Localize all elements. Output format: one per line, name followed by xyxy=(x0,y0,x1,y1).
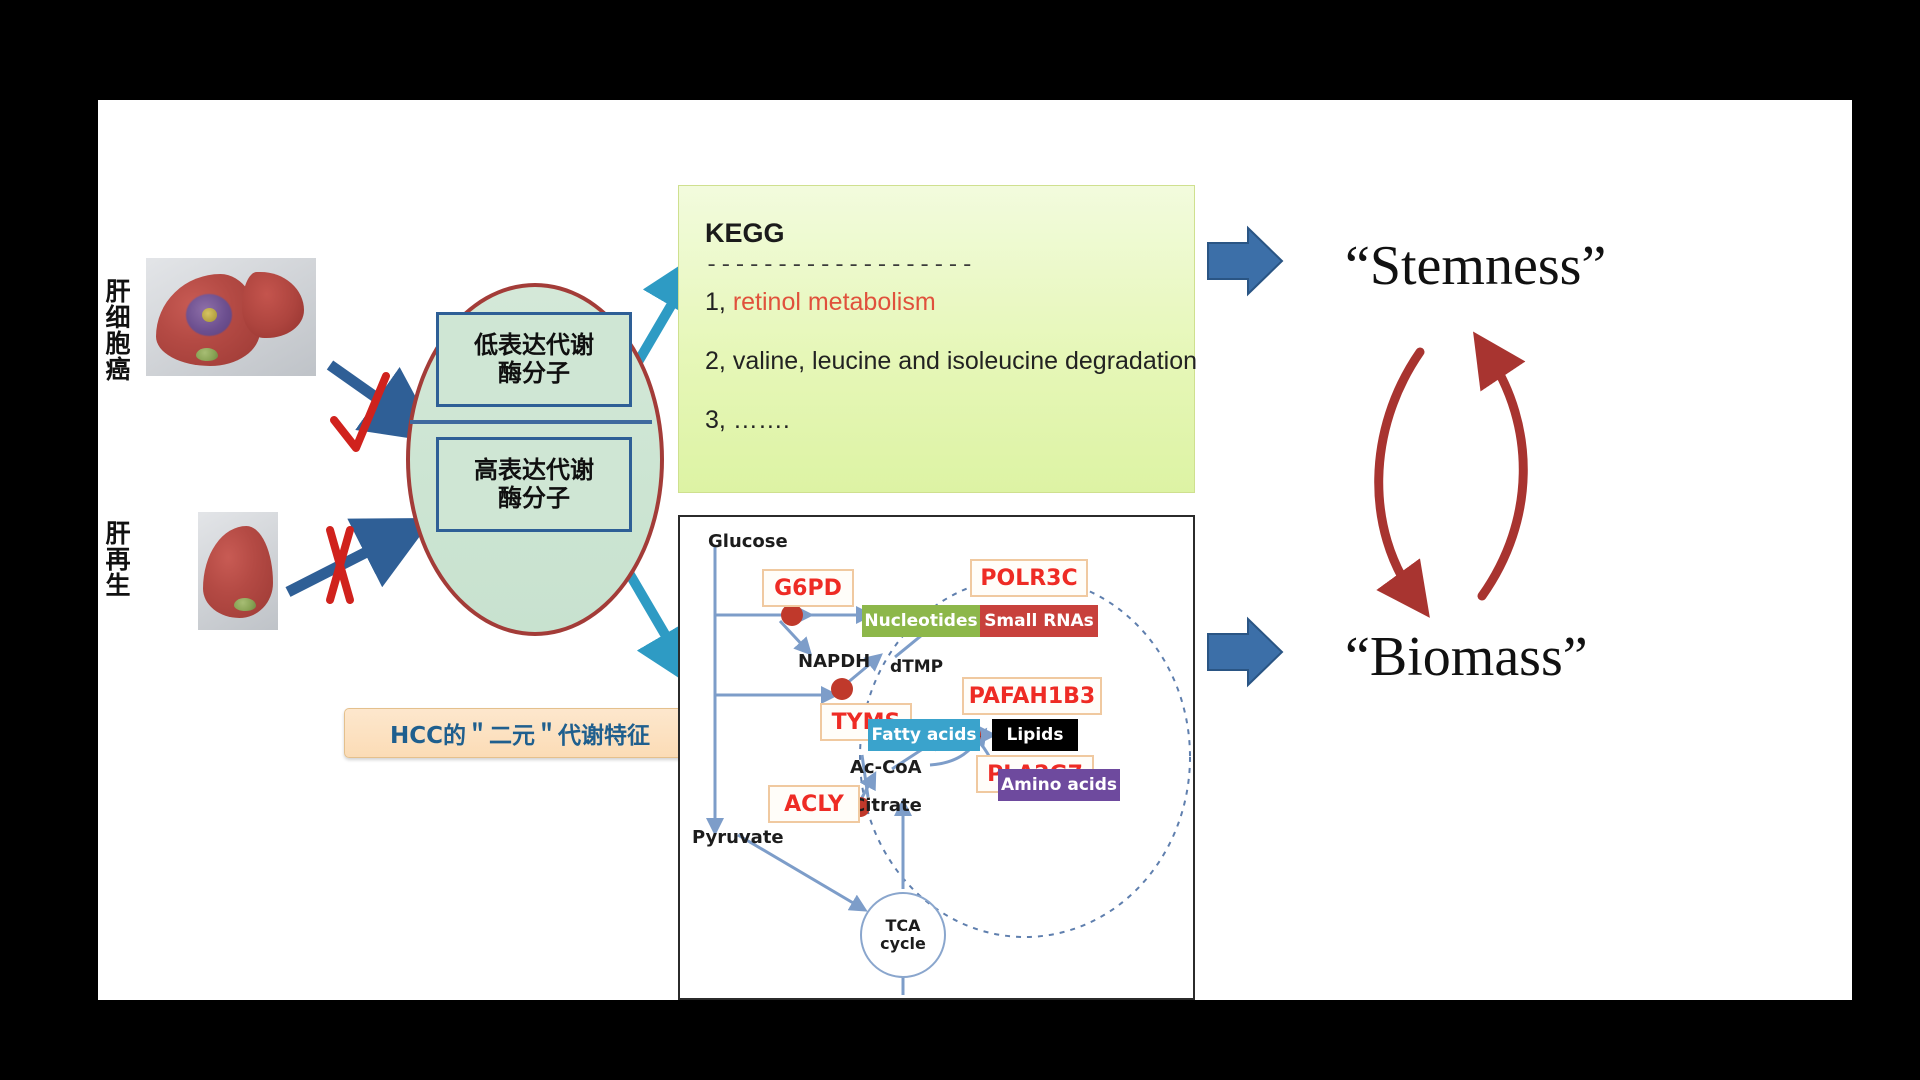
outcome-biomass: “Biomass” xyxy=(1345,625,1588,689)
product-small-rnas[interactable]: Small RNAs xyxy=(980,605,1098,637)
high-expression-line1: 高表达代谢 xyxy=(474,456,594,484)
tca-cycle-node: TCA cycle xyxy=(860,892,946,978)
metabolite-napdh: NAPDH xyxy=(798,651,870,672)
low-expression-line2: 酶分子 xyxy=(498,359,570,387)
kegg-item-2: 2, valine, leucine and isoleucine degrad… xyxy=(705,347,1168,376)
tca-line1: TCA xyxy=(885,917,920,935)
linking-double-arrow xyxy=(1379,352,1524,596)
gallbladder xyxy=(196,348,218,361)
metabolic-pathway-panel: Glucose R5P NAPDH dTMP Ac-CoA OAA Citrat… xyxy=(678,515,1195,1000)
arrow-regeneration-to-ellipse xyxy=(288,536,398,592)
kegg-item-2-label: valine, leucine and isoleucine degradati… xyxy=(733,347,1197,375)
kegg-title: KEGG xyxy=(705,218,1168,249)
gene-box-polr3c[interactable]: POLR3C xyxy=(970,559,1088,597)
kegg-panel: KEGG ------------------- 1, retinol meta… xyxy=(678,185,1195,493)
liver-hcc-image xyxy=(146,258,316,376)
red-cross-mark-regeneration xyxy=(330,530,350,600)
metabolite-pyruvate: Pyruvate xyxy=(692,827,784,848)
gene-box-acly[interactable]: ACLY xyxy=(768,785,860,823)
red-check-mark-hcc xyxy=(334,376,386,448)
metabolite-ac-coa: Ac-CoA xyxy=(850,757,922,778)
metabolite-citrate: Citrate xyxy=(852,795,922,816)
arrow-hcc-to-ellipse xyxy=(330,365,408,420)
hcc-dual-feature-caption: HCC的＂二元＂代谢特征 xyxy=(344,708,696,758)
source-label-hcc: 肝细胞癌 xyxy=(104,278,129,382)
figure-panel: 肝细胞癌 肝再生 xyxy=(98,100,1852,1000)
kegg-item-3-number: 3, xyxy=(705,406,726,434)
liver-tumor-core xyxy=(202,308,217,322)
product-fatty-acids[interactable]: Fatty acids xyxy=(868,719,980,751)
metabolite-glucose: Glucose xyxy=(708,531,788,552)
low-expression-enzyme-box[interactable]: 低表达代谢 酶分子 xyxy=(436,312,632,407)
block-arrow-biomass xyxy=(1208,619,1282,685)
liver-lobe-right xyxy=(242,272,304,338)
kegg-item-2-number: 2, xyxy=(705,347,726,375)
metabolite-dtmp: dTMP xyxy=(890,657,943,677)
enzyme-dot-tyms xyxy=(831,678,853,700)
gallbladder xyxy=(234,598,256,611)
low-expression-text: 低表达代谢 酶分子 xyxy=(474,332,594,387)
gene-box-pafah1b3[interactable]: PAFAH1B3 xyxy=(962,677,1102,715)
product-nucleotides[interactable]: Nucleotides xyxy=(862,605,980,637)
liver-regeneration-image xyxy=(198,512,278,630)
high-expression-text: 高表达代谢 酶分子 xyxy=(474,457,594,512)
kegg-item-3: 3, ……. xyxy=(705,406,1168,435)
low-expression-line1: 低表达代谢 xyxy=(474,331,594,359)
gene-box-g6pd[interactable]: G6PD xyxy=(762,569,854,607)
kegg-item-3-label: ……. xyxy=(733,406,790,434)
high-expression-line2: 酶分子 xyxy=(498,484,570,512)
outcome-stemness: “Stemness” xyxy=(1345,234,1606,298)
product-lipids[interactable]: Lipids xyxy=(992,719,1078,751)
product-amino-acids[interactable]: Amino acids xyxy=(998,769,1120,801)
source-label-regeneration: 肝再生 xyxy=(104,520,129,598)
kegg-item-1: 1, retinol metabolism xyxy=(705,288,1168,317)
kegg-divider: ------------------- xyxy=(705,253,1168,278)
tca-line2: cycle xyxy=(880,935,926,953)
kegg-item-1-number: 1, xyxy=(705,288,726,316)
kegg-item-1-label: retinol metabolism xyxy=(733,288,936,316)
high-expression-enzyme-box[interactable]: 高表达代谢 酶分子 xyxy=(436,437,632,532)
enzyme-dot-g6pd xyxy=(781,604,803,626)
ellipse-divider xyxy=(410,420,652,424)
block-arrow-stemness xyxy=(1208,228,1282,294)
screenshot-canvas: 肝细胞癌 肝再生 xyxy=(0,0,1920,1080)
